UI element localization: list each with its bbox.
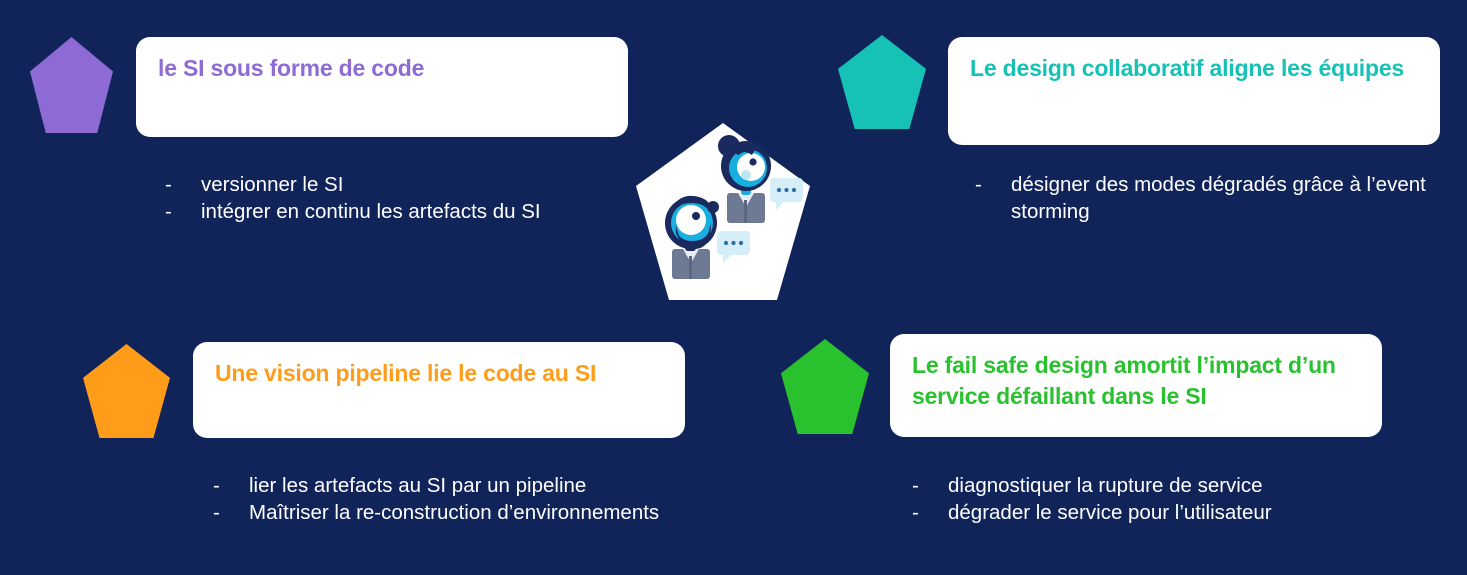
pentagon-marker-fail-safe-design: [781, 339, 869, 434]
card-title-pipeline-vision: Une vision pipeline lie le code au SI: [215, 358, 663, 389]
bullet-text: versionner le SI: [201, 172, 635, 199]
list-item: - désigner des modes dégradés grâce à l’…: [975, 172, 1455, 225]
card-fail-safe-design: Le fail safe design amortit l’impact d’u…: [890, 334, 1382, 437]
list-item: - lier les artefacts au SI par un pipeli…: [213, 473, 753, 500]
bullet-dash-icon: -: [213, 500, 249, 527]
bullet-list-si-as-code: - versionner le SI - intégrer en continu…: [165, 172, 635, 225]
list-item: - versionner le SI: [165, 172, 635, 199]
card-collaborative-design: Le design collaboratif aligne les équipe…: [948, 37, 1440, 145]
pentagon-marker-si-as-code: [30, 37, 113, 133]
pentagon-marker-collaborative-design: [838, 35, 926, 129]
bullet-dash-icon: -: [975, 172, 1011, 199]
two-people-talking-illustration: [634, 121, 812, 303]
slide-canvas: le SI sous forme de code - versionner le…: [0, 0, 1467, 575]
card-pipeline-vision: Une vision pipeline lie le code au SI: [193, 342, 685, 438]
pentagon-marker-pipeline-vision: [83, 344, 170, 438]
bullet-list-collaborative-design: - désigner des modes dégradés grâce à l’…: [975, 172, 1455, 225]
bullet-text: dégrader le service pour l’utilisateur: [948, 500, 1392, 527]
illustration-svg: [634, 121, 812, 303]
list-item: - dégrader le service pour l’utilisateur: [912, 500, 1392, 527]
bullet-dash-icon: -: [213, 473, 249, 500]
bullet-dash-icon: -: [912, 473, 948, 500]
bullet-dash-icon: -: [165, 199, 201, 226]
bullet-text: intégrer en continu les artefacts du SI: [201, 199, 635, 226]
card-title-si-as-code: le SI sous forme de code: [158, 53, 606, 84]
bullet-text: désigner des modes dégradés grâce à l’ev…: [1011, 172, 1455, 225]
bullet-text: lier les artefacts au SI par un pipeline: [249, 473, 753, 500]
list-item: - Maîtriser la re-construction d’environ…: [213, 500, 753, 527]
card-title-collaborative-design: Le design collaboratif aligne les équipe…: [970, 53, 1418, 84]
bullet-dash-icon: -: [912, 500, 948, 527]
bullet-text: Maîtriser la re-construction d’environne…: [249, 500, 753, 527]
bullet-text: diagnostiquer la rupture de service: [948, 473, 1392, 500]
bullet-list-pipeline-vision: - lier les artefacts au SI par un pipeli…: [213, 473, 753, 526]
bullet-dash-icon: -: [165, 172, 201, 199]
card-title-fail-safe-design: Le fail safe design amortit l’impact d’u…: [912, 350, 1360, 412]
list-item: - intégrer en continu les artefacts du S…: [165, 199, 635, 226]
bullet-list-fail-safe-design: - diagnostiquer la rupture de service - …: [912, 473, 1392, 526]
list-item: - diagnostiquer la rupture de service: [912, 473, 1392, 500]
card-si-as-code: le SI sous forme de code: [136, 37, 628, 137]
